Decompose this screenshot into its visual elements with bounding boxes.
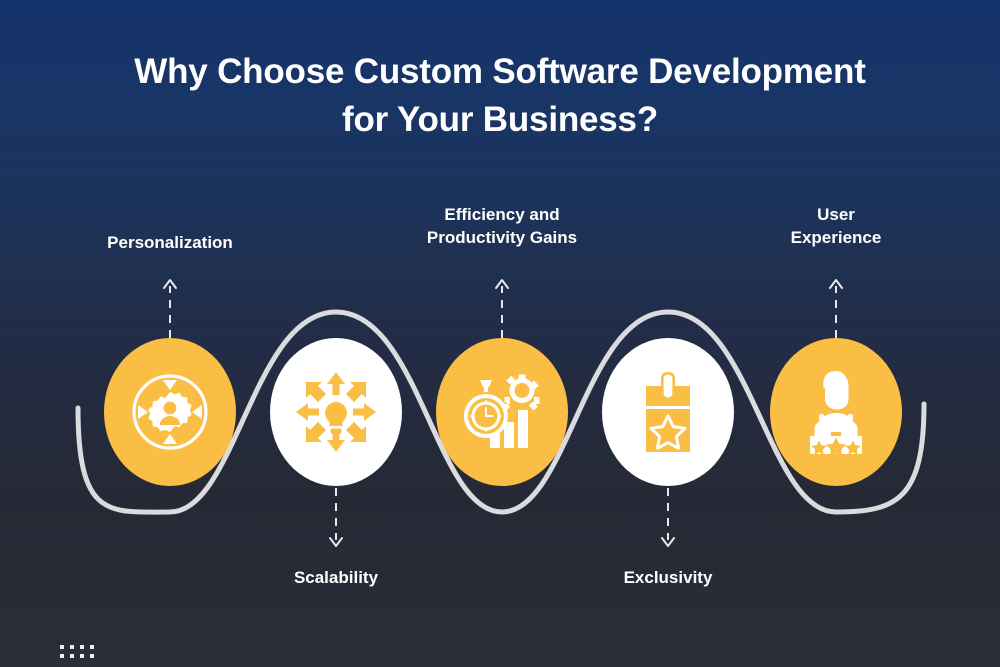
node-circle-exclusivity[interactable] — [602, 338, 734, 486]
connector-stem-personalization — [158, 276, 182, 340]
dot — [70, 645, 74, 649]
stopwatch-gear-bar-chart-icon — [454, 364, 550, 460]
connector-stem-exclusivity — [656, 486, 680, 550]
node-circle-user-experience[interactable] — [770, 338, 902, 486]
node-label-scalability: Scalability — [221, 567, 451, 590]
node-circle-personalization[interactable] — [104, 338, 236, 486]
connector-stem-user-experience — [824, 276, 848, 340]
dot-grid-decoration — [60, 645, 94, 658]
node-label-efficiency-productivity: Efficiency and Productivity Gains — [387, 204, 617, 249]
connector-stem-efficiency-productivity — [490, 276, 514, 340]
node-circle-efficiency-productivity[interactable] — [436, 338, 568, 486]
dot — [60, 645, 64, 649]
dot — [60, 654, 64, 658]
node-label-user-experience-line-2: Experience — [721, 227, 951, 250]
dot — [80, 654, 84, 658]
node-label-exclusivity-line-1: Exclusivity — [553, 567, 783, 590]
page-title-line-1: Why Choose Custom Software Development — [0, 48, 1000, 96]
page-title-line-2: for Your Business? — [0, 96, 1000, 144]
connector-stem-scalability — [324, 486, 348, 550]
node-label-efficiency-productivity-line-2: Productivity Gains — [387, 227, 617, 250]
dot — [70, 654, 74, 658]
infographic-canvas: Why Choose Custom Software Development f… — [0, 0, 1000, 667]
node-circle-scalability[interactable] — [270, 338, 402, 486]
person-in-gear-cycle-icon — [122, 364, 218, 460]
node-label-personalization-line-1: Personalization — [55, 232, 285, 255]
lightbulb-expand-arrows-icon — [288, 364, 384, 460]
dot — [80, 645, 84, 649]
dot — [90, 645, 94, 649]
node-label-exclusivity: Exclusivity — [553, 567, 783, 590]
person-thumbs-up-stars-icon — [788, 364, 884, 460]
node-label-scalability-line-1: Scalability — [221, 567, 451, 590]
dot — [90, 654, 94, 658]
star-badge-tag-icon — [620, 364, 716, 460]
node-label-personalization: Personalization — [55, 232, 285, 255]
node-label-user-experience: User Experience — [721, 204, 951, 249]
page-title: Why Choose Custom Software Development f… — [0, 48, 1000, 145]
node-label-user-experience-line-1: User — [721, 204, 951, 227]
node-label-efficiency-productivity-line-1: Efficiency and — [387, 204, 617, 227]
